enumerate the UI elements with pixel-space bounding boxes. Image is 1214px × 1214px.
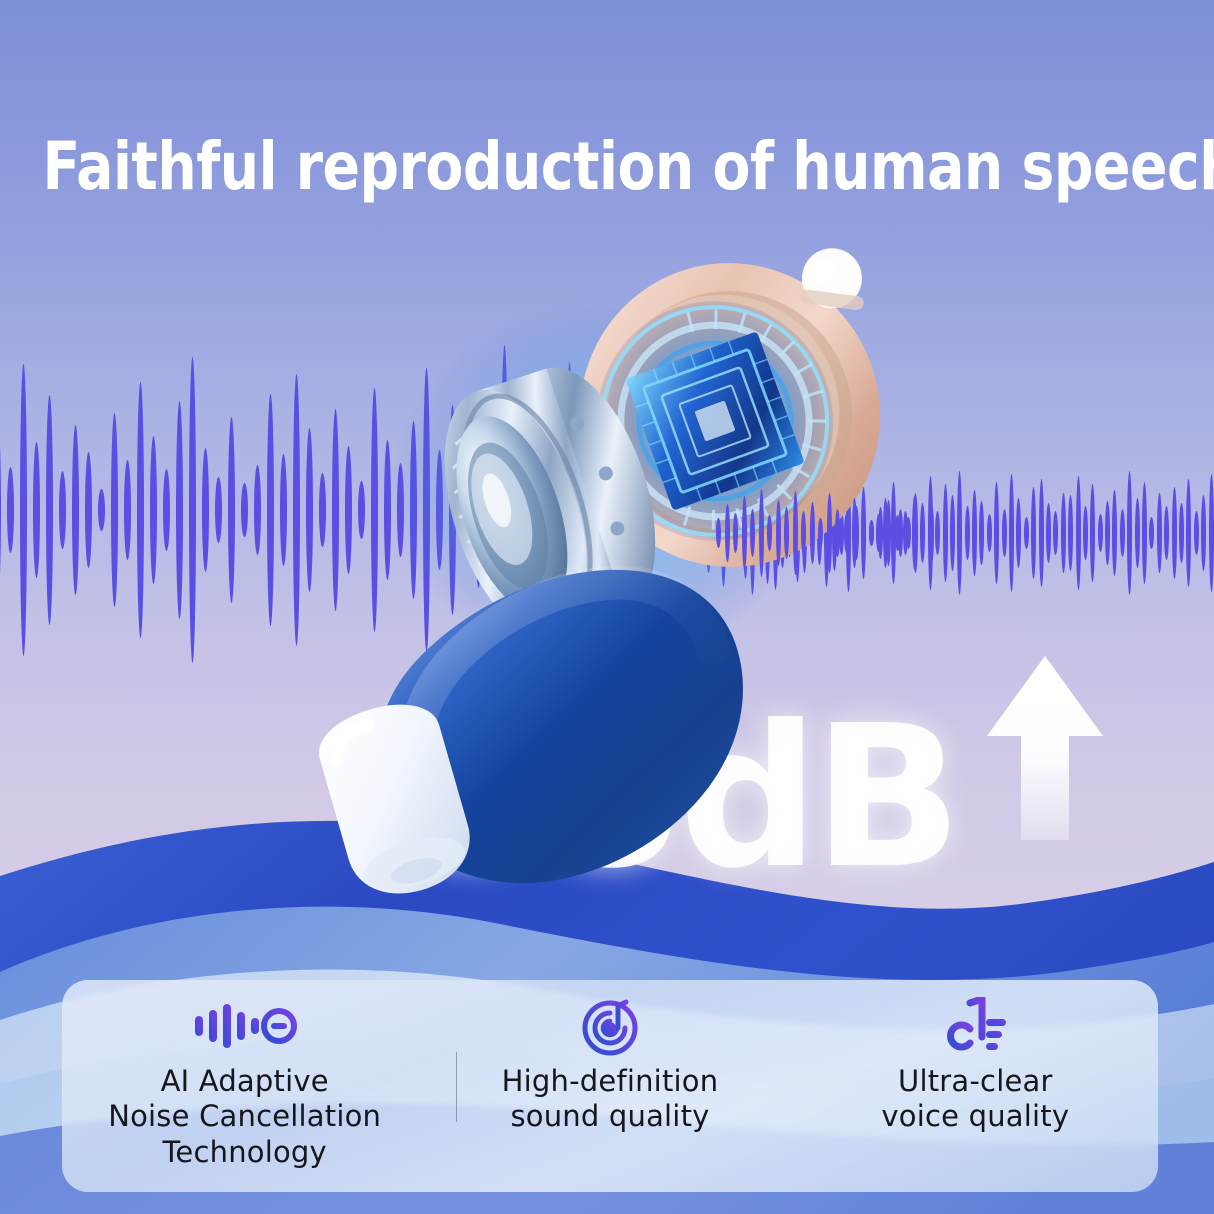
waveform-bar [124,460,131,561]
waveform-bar [1039,479,1044,587]
waveform-bar [59,471,66,549]
waveform-bar [1002,509,1007,558]
hd-sound-icon [580,994,640,1058]
waveform-bar [1164,506,1169,560]
feature-label: AI Adaptive Noise Cancellation Technolog… [108,1064,381,1170]
waveform-bar [1149,517,1154,549]
waveform-bar [1194,511,1199,554]
clear-voice-icon [944,994,1006,1058]
waveform-bar [1105,501,1110,566]
feature-item-clear-voice[interactable]: Ultra-clear voice quality [793,980,1158,1192]
waveform-bar [1024,517,1029,549]
waveform-bar [1061,493,1066,574]
waveform-bar [111,413,118,607]
waveform-bar [1112,490,1117,576]
waveform-bar [20,364,27,655]
waveform-bar [1031,487,1036,579]
waveform-bar [163,469,170,551]
waveform-bar [85,452,92,568]
waveform-bar [46,395,53,624]
waveform-bar [1209,474,1214,593]
waveform-bar [1135,498,1140,568]
waveform-bar [979,501,984,566]
waveform-bar [1120,509,1125,558]
waveform-bar [33,442,40,578]
waveform-bar [1172,487,1177,579]
waveform-bar [1127,471,1132,595]
waveform-bar [994,482,999,584]
waveform-bar [1009,474,1014,593]
page-title: Faithful reproduction of human speech [42,128,1171,205]
waveform-bar [987,514,992,552]
hearing-aid-product-image [170,225,970,955]
waveform-bar [972,490,977,576]
waveform-bar [72,425,79,596]
waveform-bar [0,417,1,603]
waveform-bar [1201,495,1206,570]
feature-label: Ultra-clear voice quality [881,1064,1069,1135]
waveform-bar [1076,476,1081,589]
feature-item-noise-cancellation[interactable]: AI Adaptive Noise Cancellation Technolog… [62,980,427,1192]
feature-item-hd-sound[interactable]: High-definition sound quality [427,980,792,1192]
waveform-bar [150,436,157,584]
waveform-bar [7,467,14,552]
waveform-bar [98,489,105,532]
waveform-bar [1090,484,1095,581]
waveform-bar [1098,514,1103,552]
waveform-bar [1016,498,1021,568]
waveform-bar [1186,479,1191,587]
waveform-bar [137,382,144,638]
waveform-bar [1068,495,1073,570]
noise-cancellation-icon [193,994,297,1058]
waveform-bar [1083,506,1088,560]
arrow-up-icon [985,650,1105,846]
waveform-bar [1142,482,1147,584]
waveform-bar [1053,511,1058,554]
feature-panel: AI Adaptive Noise Cancellation Technolog… [62,980,1158,1192]
waveform-bar [1179,503,1184,562]
product-poster: 35dB [0,0,1214,1214]
feature-label: High-definition sound quality [502,1064,719,1135]
waveform-bar [1157,493,1162,574]
waveform-bar [1046,503,1051,562]
